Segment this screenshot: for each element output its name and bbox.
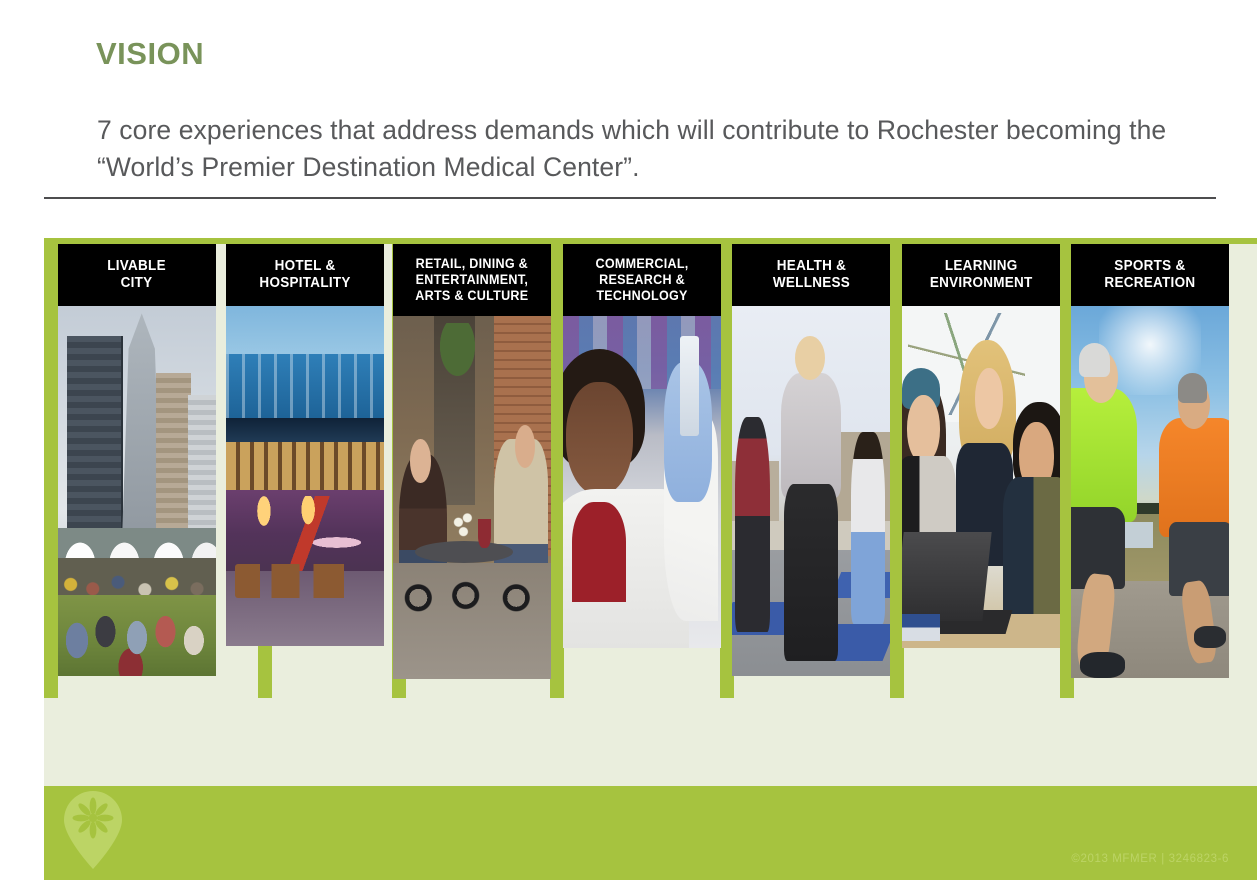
column-header-line: HOSPITALITY	[259, 275, 350, 292]
mayo-clinic-pin-logo	[64, 791, 122, 869]
column-header-line: SPORTS &	[1105, 258, 1196, 275]
column-header-commercial-research: COMMERCIAL, RESEARCH & TECHNOLOGY	[563, 244, 721, 316]
experience-column-commercial-research[interactable]: COMMERCIAL, RESEARCH & TECHNOLOGY	[563, 244, 721, 648]
column-header-line: LIVABLE	[108, 258, 167, 275]
column-header-line: HEALTH &	[772, 258, 849, 275]
column-header-line: CITY	[108, 275, 167, 292]
experience-column-livable-city[interactable]: LIVABLE CITY	[58, 244, 216, 676]
column-header-line: RETAIL, DINING &	[415, 256, 528, 272]
column-divider-3	[550, 244, 564, 698]
slide-subtitle: 7 core experiences that address demands …	[97, 112, 1217, 185]
experience-columns: LIVABLE CITY HOTEL & HOSPITALITY	[44, 238, 1257, 786]
experience-column-hotel-hospitality[interactable]: HOTEL & HOSPITALITY	[226, 244, 384, 646]
column-header-health-wellness: HEALTH & WELLNESS	[732, 244, 890, 306]
column-header-line: HOTEL &	[259, 258, 350, 275]
column-header-hotel-hospitality: HOTEL & HOSPITALITY	[226, 244, 384, 306]
column-header-line: COMMERCIAL,	[595, 256, 688, 272]
column-header-line: ARTS & CULTURE	[415, 288, 528, 304]
column-header-line: TECHNOLOGY	[595, 288, 688, 304]
column-header-line: ENTERTAINMENT,	[415, 272, 528, 288]
column-header-line: ENVIRONMENT	[930, 275, 1033, 292]
title-divider-rule	[44, 197, 1216, 199]
column-photo-livable-city	[58, 306, 216, 676]
column-photo-hotel-hospitality	[226, 306, 384, 646]
column-header-retail-dining: RETAIL, DINING & ENTERTAINMENT, ARTS & C…	[393, 244, 551, 316]
copyright-text: ©2013 MFMER | 3246823-6	[1071, 853, 1229, 865]
experience-column-sports-recreation[interactable]: SPORTS & RECREATION	[1071, 244, 1229, 678]
column-header-line: WELLNESS	[772, 275, 849, 292]
column-header-livable-city: LIVABLE CITY	[58, 244, 216, 306]
column-photo-retail-dining	[393, 316, 551, 679]
page-title: VISION	[96, 37, 204, 71]
column-photo-health-wellness	[732, 306, 890, 676]
footer-bar	[44, 786, 1257, 880]
column-header-line: RECREATION	[1105, 275, 1196, 292]
column-photo-commercial-research	[563, 316, 721, 648]
column-photo-sports-recreation	[1071, 306, 1229, 678]
experience-column-health-wellness[interactable]: HEALTH & WELLNESS	[732, 244, 890, 676]
column-photo-learning-environment	[902, 306, 1060, 648]
experiences-panel: LIVABLE CITY HOTEL & HOSPITALITY	[44, 238, 1257, 786]
experience-column-learning-environment[interactable]: LEARNING ENVIRONMENT	[902, 244, 1060, 648]
column-header-sports-recreation: SPORTS & RECREATION	[1071, 244, 1229, 306]
experience-column-retail-dining[interactable]: RETAIL, DINING & ENTERTAINMENT, ARTS & C…	[393, 244, 551, 679]
column-header-line: RESEARCH &	[595, 272, 688, 288]
column-header-line: LEARNING	[930, 258, 1033, 275]
column-header-learning-environment: LEARNING ENVIRONMENT	[902, 244, 1060, 306]
